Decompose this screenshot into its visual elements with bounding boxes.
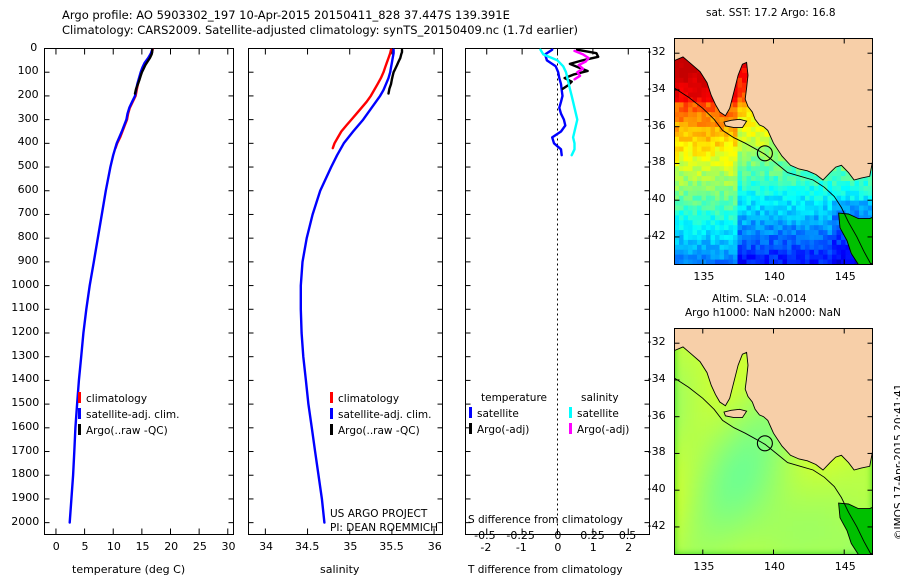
legend-swatch-argo-raw [78, 424, 81, 435]
salinity-panel: 3434.53535.536 salinity climatology sate… [240, 0, 455, 580]
salinity-tick-label: 34 [259, 540, 273, 553]
depth-tick-label: 1100 [11, 301, 39, 314]
depth-tick-label: 1600 [11, 420, 39, 433]
depth-tick-label: 200 [18, 88, 39, 101]
sst-map-title: sat. SST: 17.2 Argo: 16.8 [706, 7, 836, 19]
legend-item: Argo(-adj) [569, 423, 629, 436]
sst-lat-tick-label: -34 [648, 82, 666, 95]
difference-legend: temperature satellite Argo(-adj) salinit… [469, 392, 629, 436]
depth-tick-label: 300 [18, 112, 39, 125]
imos-credit: ©IMOS 17-Apr-2015 20:41:41 [893, 384, 900, 540]
legend-swatch-climatology [330, 392, 333, 403]
depth-tick-label: 1000 [11, 278, 39, 291]
sla-lon-tick-label: 135 [693, 560, 714, 573]
legend-col-header: temperature [469, 392, 547, 404]
sst-lat-tick-label: -32 [648, 45, 666, 58]
legend-item: climatology [330, 392, 431, 405]
difference-legend-temperature-col: temperature satellite Argo(-adj) [469, 392, 547, 436]
depth-tick-label: 1400 [11, 372, 39, 385]
sla-map-svg[interactable] [660, 290, 900, 580]
depth-tick-label: 1900 [11, 491, 39, 504]
legend-item: Argo(-adj) [469, 423, 547, 436]
legend-item: satellite-adj. clim. [78, 408, 179, 421]
sla-map-title-line1: Altim. SLA: -0.014 [712, 293, 807, 305]
salinity-tick-label: 34.5 [295, 540, 320, 553]
argo-project-credit-line2: PI: DEAN ROEMMICH [330, 522, 438, 534]
depth-tick-label: 600 [18, 183, 39, 196]
depth-tick-label: 1700 [11, 444, 39, 457]
sst-lon-tick-label: 145 [835, 270, 856, 283]
sla-lat-tick-label: -36 [648, 409, 666, 422]
salinity-difference-axis-label: S difference from climatology [468, 514, 623, 526]
depth-tick-label: 700 [18, 206, 39, 219]
depth-tick-label: 100 [18, 64, 39, 77]
salinity-plot-svg [240, 0, 455, 580]
sla-lon-tick-label: 145 [835, 560, 856, 573]
salinity-tick-label: 35 [343, 540, 357, 553]
legend-item: Argo(..raw -QC) [78, 424, 179, 437]
salinity-axis-label: salinity [320, 563, 359, 576]
salinity-tick-label: 36 [428, 540, 442, 553]
temperature-tick-label: 0 [53, 540, 60, 553]
legend-label: Argo(-adj) [477, 424, 529, 436]
temperature-legend: climatology satellite-adj. clim. Argo(..… [78, 392, 179, 437]
legend-label: satellite [577, 408, 619, 420]
t-difference-tick-label: -1 [516, 541, 527, 554]
sla-lat-tick-label: -40 [648, 482, 666, 495]
legend-item: satellite [469, 407, 547, 420]
t-difference-tick-label: 0 [554, 541, 561, 554]
sst-map-svg[interactable] [660, 0, 900, 290]
depth-tick-label: 0 [30, 41, 37, 54]
legend-swatch-climatology [78, 392, 81, 403]
legend-label: satellite [477, 408, 519, 420]
depth-tick-label: 2000 [11, 515, 39, 528]
sla-lat-tick-label: -38 [648, 445, 666, 458]
sst-lon-tick-label: 140 [764, 270, 785, 283]
legend-item: Argo(..raw -QC) [330, 424, 431, 437]
difference-legend-salinity-col: salinity satellite Argo(-adj) [569, 392, 629, 436]
legend-swatch-satellite-adj [330, 408, 333, 419]
temperature-panel: 0100200300400500600700800900100011001200… [0, 0, 240, 580]
depth-tick-label: 1300 [11, 349, 39, 362]
sst-map-panel: sat. SST: 17.2 Argo: 16.8 135140145 -32-… [660, 0, 900, 290]
argo-project-credit-line1: US ARGO PROJECT [330, 508, 427, 520]
sla-lon-tick-label: 140 [764, 560, 785, 573]
depth-tick-label: 900 [18, 254, 39, 267]
temperature-tick-label: 10 [107, 540, 121, 553]
temperature-tick-label: 15 [136, 540, 150, 553]
sla-lat-tick-label: -42 [648, 519, 666, 532]
legend-swatch-salinity-satellite [569, 407, 572, 418]
t-difference-tick-label: 2 [625, 541, 632, 554]
sla-map-title-line2: Argo h1000: NaN h2000: NaN [685, 307, 841, 319]
t-difference-tick-label: 1 [590, 541, 597, 554]
legend-swatch-temperature-satellite [469, 407, 472, 418]
sst-lat-tick-label: -42 [648, 229, 666, 242]
depth-tick-label: 800 [18, 230, 39, 243]
legend-swatch-satellite-adj [78, 408, 81, 419]
sst-lat-tick-label: -38 [648, 155, 666, 168]
temperature-tick-label: 25 [193, 540, 207, 553]
sst-lat-tick-label: -36 [648, 119, 666, 132]
t-difference-tick-label: -2 [480, 541, 491, 554]
salinity-tick-label: 35.5 [379, 540, 404, 553]
sla-lat-tick-label: -34 [648, 372, 666, 385]
legend-label: Argo(..raw -QC) [86, 425, 168, 437]
temperature-tick-label: 5 [81, 540, 88, 553]
legend-label: climatology [338, 393, 399, 405]
depth-tick-label: 500 [18, 159, 39, 172]
sst-lon-tick-label: 135 [693, 270, 714, 283]
legend-label: satellite-adj. clim. [86, 409, 179, 421]
sla-lat-tick-label: -32 [648, 335, 666, 348]
legend-label: Argo(..raw -QC) [338, 425, 420, 437]
legend-label: satellite-adj. clim. [338, 409, 431, 421]
depth-tick-label: 1500 [11, 396, 39, 409]
sla-map-panel: Altim. SLA: -0.014 Argo h1000: NaN h2000… [660, 290, 900, 580]
salinity-legend: climatology satellite-adj. clim. Argo(..… [330, 392, 431, 437]
depth-tick-label: 1800 [11, 467, 39, 480]
depth-tick-label: 400 [18, 135, 39, 148]
temperature-tick-label: 20 [164, 540, 178, 553]
difference-plot-svg [455, 0, 660, 580]
sst-lat-tick-label: -40 [648, 192, 666, 205]
legend-swatch-argo-raw [330, 424, 333, 435]
legend-item: satellite [569, 407, 629, 420]
legend-swatch-salinity-argo [569, 423, 572, 434]
legend-col-header: salinity [569, 392, 629, 404]
legend-label: climatology [86, 393, 147, 405]
depth-tick-label: 1200 [11, 325, 39, 338]
legend-swatch-temperature-argo [469, 423, 472, 434]
temperature-axis-label: temperature (deg C) [72, 563, 185, 576]
legend-label: Argo(-adj) [577, 424, 629, 436]
temperature-tick-label: 30 [221, 540, 235, 553]
legend-item: satellite-adj. clim. [330, 408, 431, 421]
legend-item: climatology [78, 392, 179, 405]
difference-panel: -0.5-0.2500.250.5 -2-1012 S difference f… [455, 0, 660, 580]
temperature-difference-axis-label: T difference from climatology [468, 564, 623, 576]
